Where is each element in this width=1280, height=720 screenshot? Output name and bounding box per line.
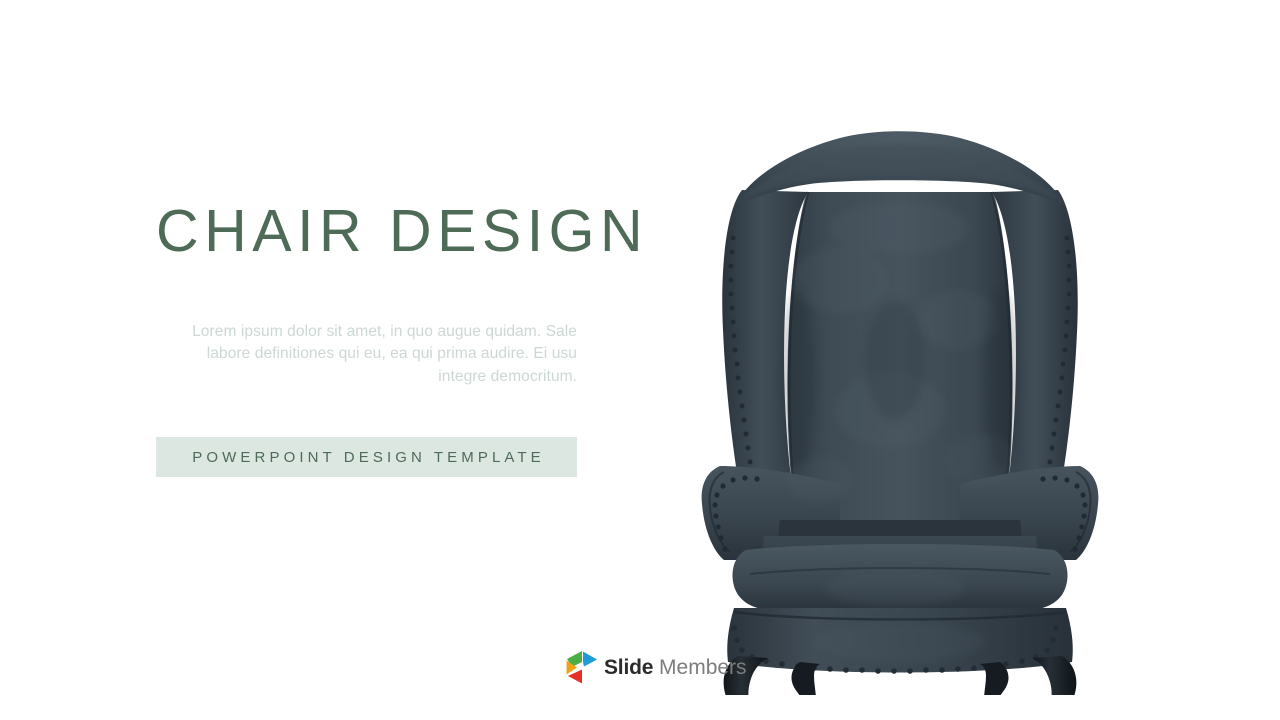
chair-leg-rear-left xyxy=(791,662,820,695)
slidemembers-hex-logo-icon xyxy=(564,649,598,685)
cta-banner[interactable]: POWERPOINT DESIGN TEMPLATE xyxy=(156,437,577,477)
cta-label: POWERPOINT DESIGN TEMPLATE xyxy=(188,449,545,466)
text-column: CHAIR DESIGN Lorem ipsum dolor sit amet,… xyxy=(156,200,577,388)
logo-wordmark: Slide Members xyxy=(604,657,747,678)
body-paragraph: Lorem ipsum dolor sit amet, in quo augue… xyxy=(156,264,577,389)
chair-leg-rear-right xyxy=(980,662,1009,695)
page-title: CHAIR DESIGN xyxy=(156,200,577,264)
brand-logo: Slide Members xyxy=(564,648,747,686)
logo-brand-primary: Slide xyxy=(604,656,653,679)
logo-brand-secondary: Members xyxy=(659,656,747,679)
slide-canvas: CHAIR DESIGN Lorem ipsum dolor sit amet,… xyxy=(0,0,1280,720)
chair-image xyxy=(690,80,1110,695)
